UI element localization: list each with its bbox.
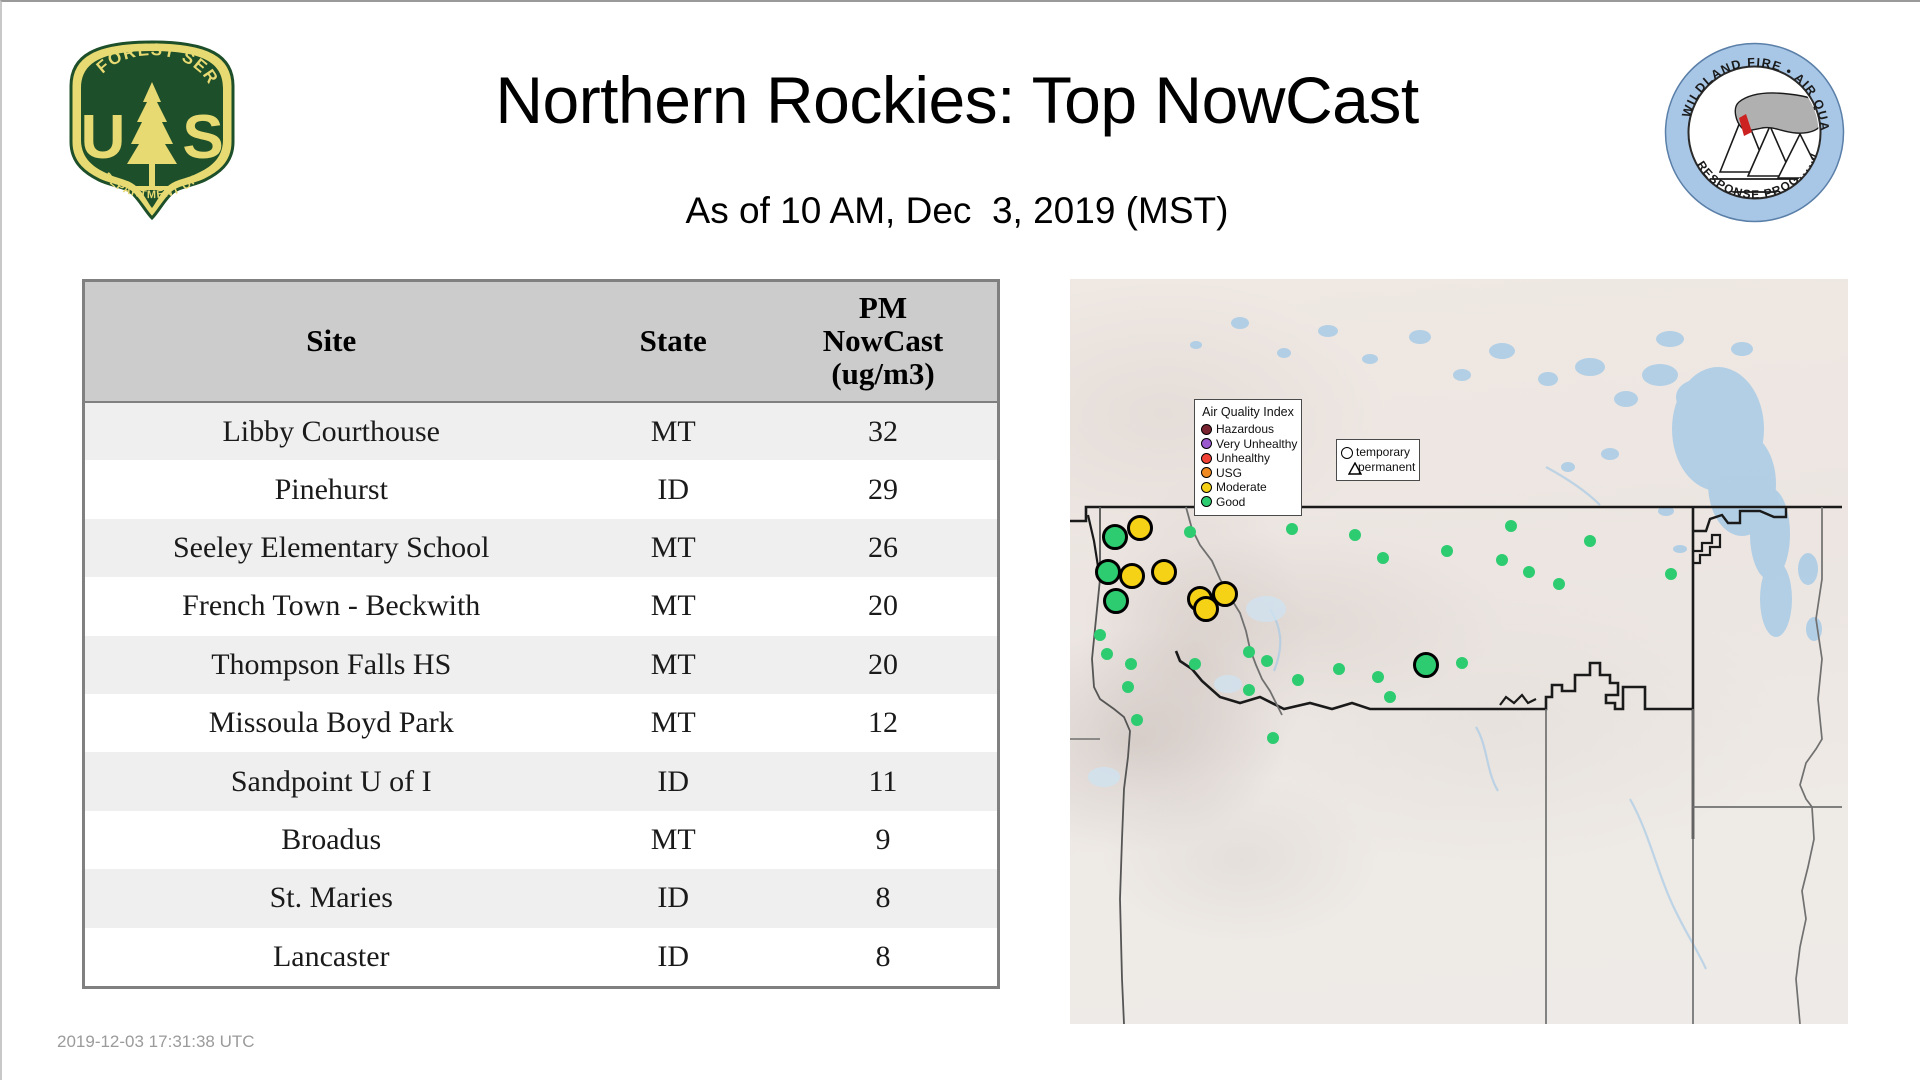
aqi-legend-item-label: Good bbox=[1216, 495, 1245, 509]
monitor-site-dot[interactable] bbox=[1243, 646, 1255, 658]
aqi-legend-item: Good bbox=[1201, 495, 1295, 509]
monitor-type-permanent-label: permanent bbox=[1358, 460, 1415, 475]
monitor-type-legend: temporary permanent bbox=[1336, 439, 1420, 481]
table-row[interactable]: Sandpoint U of IID11 bbox=[85, 752, 997, 810]
map-state-boundaries-layer bbox=[1070, 279, 1848, 1024]
site-name-cell: Pinehurst bbox=[85, 460, 577, 518]
site-name-cell: Seeley Elementary School bbox=[85, 519, 577, 577]
monitor-site-dot[interactable] bbox=[1665, 568, 1677, 580]
monitor-site-dot[interactable] bbox=[1553, 578, 1565, 590]
state-cell: MT bbox=[577, 519, 769, 577]
aqi-legend-item: Unhealthy bbox=[1201, 451, 1295, 465]
aqi-legend-item: Very Unhealthy bbox=[1201, 437, 1295, 451]
table-row[interactable]: Libby CourthouseMT32 bbox=[85, 402, 997, 460]
state-cell: MT bbox=[577, 577, 769, 635]
generation-timestamp: 2019-12-03 17:31:38 UTC bbox=[57, 1032, 255, 1052]
monitor-site-dot[interactable] bbox=[1505, 520, 1517, 532]
monitor-site-dot[interactable] bbox=[1184, 526, 1196, 538]
aqi-legend-item: Hazardous bbox=[1201, 422, 1295, 436]
monitor-site-dot[interactable] bbox=[1267, 732, 1279, 744]
monitor-site-dot[interactable] bbox=[1413, 652, 1439, 678]
site-name-cell: French Town - Beckwith bbox=[85, 577, 577, 635]
aqi-legend-item-label: Very Unhealthy bbox=[1216, 437, 1297, 451]
pm-nowcast-value-cell: 20 bbox=[769, 636, 997, 694]
monitor-site-dot[interactable] bbox=[1372, 671, 1384, 683]
monitor-site-dot[interactable] bbox=[1122, 681, 1134, 693]
monitor-site-dot[interactable] bbox=[1377, 552, 1389, 564]
pm-nowcast-value-cell: 12 bbox=[769, 694, 997, 752]
monitor-site-dot[interactable] bbox=[1292, 674, 1304, 686]
column-header-site[interactable]: Site bbox=[85, 282, 577, 402]
aqi-legend-item-label: Unhealthy bbox=[1216, 451, 1270, 465]
site-name-cell: Broadus bbox=[85, 811, 577, 869]
monitor-type-temporary-label: temporary bbox=[1356, 445, 1410, 460]
table-row[interactable]: BroadusMT9 bbox=[85, 811, 997, 869]
monitor-site-dot[interactable] bbox=[1523, 566, 1535, 578]
monitor-site-dot[interactable] bbox=[1103, 588, 1129, 614]
us-forest-service-shield-logo: FOREST SERVICE U S DEPARTMENT OF AGRICUL… bbox=[57, 34, 247, 224]
table-row[interactable]: Missoula Boyd ParkMT12 bbox=[85, 694, 997, 752]
table-row[interactable]: St. MariesID8 bbox=[85, 869, 997, 927]
site-name-cell: Missoula Boyd Park bbox=[85, 694, 577, 752]
monitor-type-temporary-row: temporary bbox=[1341, 445, 1414, 460]
aqi-color-swatch-icon bbox=[1201, 453, 1212, 464]
monitor-site-dot[interactable] bbox=[1212, 581, 1238, 607]
aqi-color-swatch-icon bbox=[1201, 482, 1212, 493]
aqi-legend-item-label: USG bbox=[1216, 466, 1242, 480]
pm-nowcast-value-cell: 9 bbox=[769, 811, 997, 869]
pm-nowcast-value-cell: 11 bbox=[769, 752, 997, 810]
aqi-legend-item: USG bbox=[1201, 466, 1295, 480]
table-row[interactable]: PinehurstID29 bbox=[85, 460, 997, 518]
triangle-outline-icon bbox=[1341, 462, 1355, 474]
aqi-legend: Air Quality Index HazardousVery Unhealth… bbox=[1194, 399, 1302, 516]
monitor-site-dot[interactable] bbox=[1095, 559, 1121, 585]
site-name-cell: Thompson Falls HS bbox=[85, 636, 577, 694]
monitor-site-dot[interactable] bbox=[1131, 714, 1143, 726]
aqi-color-swatch-icon bbox=[1201, 438, 1212, 449]
monitor-site-dot[interactable] bbox=[1127, 515, 1153, 541]
pm-nowcast-value-cell: 32 bbox=[769, 402, 997, 460]
state-cell: MT bbox=[577, 402, 769, 460]
column-header-pm-nowcast[interactable]: PM NowCast (ug/m3) bbox=[769, 282, 997, 402]
monitor-site-dot[interactable] bbox=[1333, 663, 1345, 675]
state-cell: MT bbox=[577, 811, 769, 869]
site-name-cell: Lancaster bbox=[85, 928, 577, 986]
monitor-site-dot[interactable] bbox=[1496, 554, 1508, 566]
pm-nowcast-value-cell: 8 bbox=[769, 869, 997, 927]
monitor-site-dot[interactable] bbox=[1125, 658, 1137, 670]
table-row[interactable]: Seeley Elementary SchoolMT26 bbox=[85, 519, 997, 577]
pm-nowcast-value-cell: 8 bbox=[769, 928, 997, 986]
table-body: Libby CourthouseMT32PinehurstID29Seeley … bbox=[85, 402, 997, 986]
monitor-site-dot[interactable] bbox=[1441, 545, 1453, 557]
pm-nowcast-value-cell: 26 bbox=[769, 519, 997, 577]
monitor-site-dot[interactable] bbox=[1102, 524, 1128, 550]
state-cell: ID bbox=[577, 460, 769, 518]
table-header: Site State PM NowCast (ug/m3) bbox=[85, 282, 997, 402]
state-cell: MT bbox=[577, 636, 769, 694]
table-row[interactable]: LancasterID8 bbox=[85, 928, 997, 986]
site-name-cell: Libby Courthouse bbox=[85, 402, 577, 460]
monitor-site-dot[interactable] bbox=[1384, 691, 1396, 703]
state-cell: ID bbox=[577, 928, 769, 986]
page-subtitle: As of 10 AM, Dec 3, 2019 (MST) bbox=[262, 190, 1652, 232]
monitor-site-dot[interactable] bbox=[1261, 655, 1273, 667]
monitor-site-dot[interactable] bbox=[1101, 648, 1113, 660]
state-cell: MT bbox=[577, 694, 769, 752]
slide-canvas: FOREST SERVICE U S DEPARTMENT OF AGRICUL… bbox=[0, 0, 1920, 1080]
aqi-legend-title: Air Quality Index bbox=[1201, 405, 1295, 419]
monitor-site-dot[interactable] bbox=[1456, 657, 1468, 669]
table-row[interactable]: French Town - BeckwithMT20 bbox=[85, 577, 997, 635]
monitor-site-dot[interactable] bbox=[1151, 559, 1177, 585]
state-cell: ID bbox=[577, 869, 769, 927]
monitor-site-dot[interactable] bbox=[1189, 658, 1201, 670]
svg-text:U: U bbox=[81, 103, 126, 172]
aqi-color-swatch-icon bbox=[1201, 467, 1212, 478]
monitor-site-dot[interactable] bbox=[1286, 523, 1298, 535]
state-cell: ID bbox=[577, 752, 769, 810]
aqi-color-swatch-icon bbox=[1201, 424, 1212, 435]
page-title: Northern Rockies: Top NowCast bbox=[262, 62, 1652, 138]
header: FOREST SERVICE U S DEPARTMENT OF AGRICUL… bbox=[2, 2, 1920, 272]
circle-outline-icon bbox=[1341, 447, 1353, 459]
aqi-legend-item: Moderate bbox=[1201, 480, 1295, 494]
top-nowcast-table: Site State PM NowCast (ug/m3) Libby Cour… bbox=[85, 282, 997, 986]
top-nowcast-table-container: Site State PM NowCast (ug/m3) Libby Cour… bbox=[82, 279, 1000, 989]
wildland-fire-air-quality-badge-logo: WILDLAND FIRE • AIR QUALITY RESPONSE PRO… bbox=[1662, 40, 1847, 225]
aqi-legend-item-label: Moderate bbox=[1216, 480, 1267, 494]
table-header-row: Site State PM NowCast (ug/m3) bbox=[85, 282, 997, 402]
monitor-site-dot[interactable] bbox=[1119, 563, 1145, 589]
monitor-type-permanent-row: permanent bbox=[1341, 460, 1414, 475]
monitor-site-dot[interactable] bbox=[1243, 684, 1255, 696]
air-quality-monitor-map[interactable]: Air Quality Index HazardousVery Unhealth… bbox=[1070, 279, 1848, 1024]
monitor-site-dot[interactable] bbox=[1584, 535, 1596, 547]
monitor-site-dot[interactable] bbox=[1349, 529, 1361, 541]
aqi-color-swatch-icon bbox=[1201, 496, 1212, 507]
monitor-site-dot[interactable] bbox=[1094, 629, 1106, 641]
site-name-cell: Sandpoint U of I bbox=[85, 752, 577, 810]
pm-nowcast-value-cell: 29 bbox=[769, 460, 997, 518]
aqi-legend-items: HazardousVery UnhealthyUnhealthyUSGModer… bbox=[1201, 422, 1295, 509]
column-header-state[interactable]: State bbox=[577, 282, 769, 402]
aqi-legend-item-label: Hazardous bbox=[1216, 422, 1274, 436]
table-row[interactable]: Thompson Falls HSMT20 bbox=[85, 636, 997, 694]
pm-nowcast-value-cell: 20 bbox=[769, 577, 997, 635]
svg-text:S: S bbox=[182, 103, 223, 172]
site-name-cell: St. Maries bbox=[85, 869, 577, 927]
